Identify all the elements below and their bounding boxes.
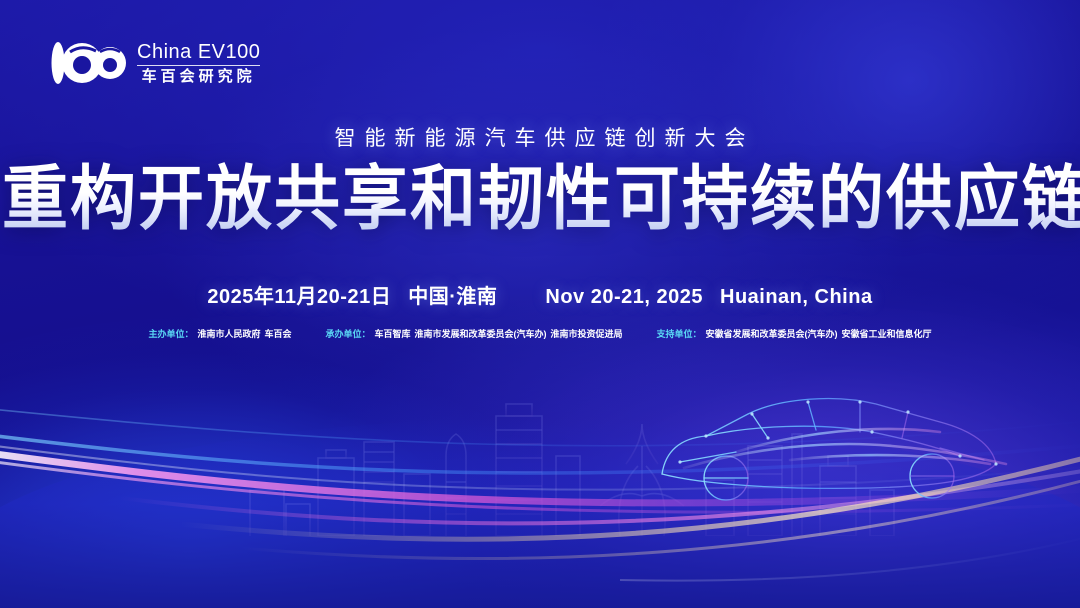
china-ev100-logo: China EV100 车百会研究院 bbox=[48, 38, 260, 88]
organizer-value: 淮南市发展和改革委员会(汽车办) bbox=[415, 329, 547, 340]
city-skyline-silhouette bbox=[0, 386, 1080, 536]
organizer-group-support: 支持单位： 安徽省发展和改革委员会(汽车办) 安徽省工业和信息化厅 bbox=[657, 329, 932, 340]
conference-subtitle: 智能新能源汽车供应链创新大会 bbox=[0, 126, 1080, 151]
organizer-label: 主办单位： bbox=[148, 329, 193, 340]
logo-brand-cn: 车百会研究院 bbox=[137, 69, 260, 84]
light-trail-streaks bbox=[0, 348, 1080, 608]
date-location-en: Nov 20-21, 2025 Huainan, China bbox=[545, 286, 872, 309]
glow-bottom-right bbox=[480, 308, 1080, 608]
date-cn: 2025年11月20-21日 bbox=[207, 280, 391, 309]
horizon-curve bbox=[0, 418, 1080, 608]
logo-brand-en: China EV100 bbox=[137, 42, 260, 62]
location-en: Huainan, China bbox=[720, 286, 873, 309]
organizer-group-organizer: 承办单位： 车百智库 淮南市发展和改革委员会(汽车办) 淮南市投资促进局 bbox=[325, 329, 622, 340]
organizer-group-host: 主办单位： 淮南市人民政府 车百会 bbox=[148, 329, 291, 340]
organizer-value: 车百会 bbox=[264, 329, 291, 340]
conference-headline: 重构开放共享和韧性可持续的供应链体系 bbox=[0, 161, 1080, 237]
logo-wordmark: China EV100 车百会研究院 bbox=[137, 42, 260, 84]
organizer-value: 淮南市人民政府 bbox=[197, 329, 260, 340]
conference-banner: China EV100 车百会研究院 智能新能源汽车供应链创新大会 重构开放共享… bbox=[0, 0, 1080, 608]
glow-bottom-left bbox=[0, 318, 600, 608]
date-en: Nov 20-21, 2025 bbox=[545, 286, 703, 309]
wireframe-electric-car bbox=[640, 352, 1040, 522]
organizer-label: 支持单位： bbox=[657, 329, 702, 340]
organizer-value: 安徽省工业和信息化厅 bbox=[842, 329, 932, 340]
location-cn: 中国·淮南 bbox=[408, 280, 497, 309]
banner-content: 智能新能源汽车供应链创新大会 重构开放共享和韧性可持续的供应链体系 2025年1… bbox=[0, 126, 1080, 340]
organizer-value: 淮南市投资促进局 bbox=[551, 329, 623, 340]
ev100-circles-icon bbox=[48, 38, 126, 88]
organizer-list: 主办单位： 淮南市人民政府 车百会 承办单位： 车百智库 淮南市发展和改革委员会… bbox=[0, 329, 1080, 340]
date-location-cn: 2025年11月20-21日 中国·淮南 bbox=[207, 280, 497, 309]
organizer-value: 车百智库 bbox=[375, 329, 411, 340]
date-location-line: 2025年11月20-21日 中国·淮南 Nov 20-21, 2025 Hua… bbox=[0, 280, 1080, 309]
logo-divider bbox=[137, 65, 260, 66]
organizer-value: 安徽省发展和改革委员会(汽车办) bbox=[706, 329, 838, 340]
organizer-label: 承办单位： bbox=[325, 329, 370, 340]
